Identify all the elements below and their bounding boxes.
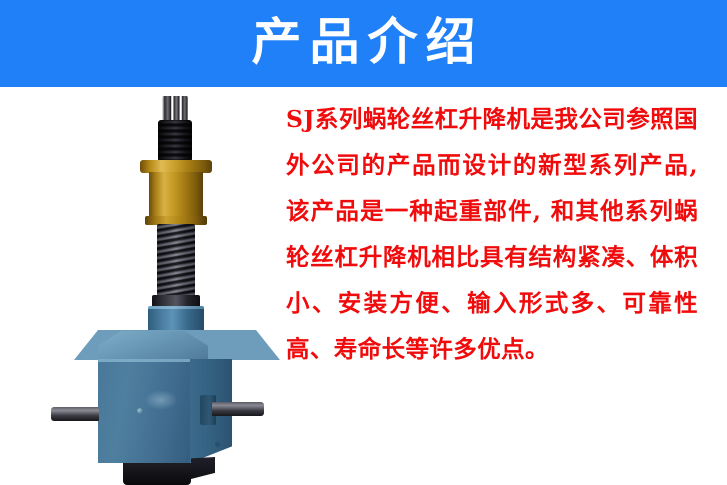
gearbox-specular-sheen	[144, 390, 178, 410]
page-title: 产品介绍	[0, 0, 727, 87]
product-description: SJ系列蜗轮丝杠升降机是我公司参照国外公司的产品而设计的新型系列产品, 该产品是…	[286, 96, 698, 372]
mounting-base	[123, 463, 191, 485]
gearbox-edge-highlight	[98, 359, 190, 362]
product-intro-page: 产品介绍 SJ系列蜗轮丝杠升降机是我公司参照国外公司的产品而设计的新型系列产品,…	[0, 0, 727, 427]
gearbox-front-face	[98, 359, 190, 463]
screw-rod-upper	[158, 120, 192, 162]
gearbox-bolt	[215, 442, 220, 447]
input-shaft-right	[212, 402, 264, 416]
gearbox-top-shading	[98, 331, 208, 360]
product-image	[40, 90, 270, 400]
input-shaft-left	[51, 407, 99, 421]
screw-rod-lower	[157, 224, 195, 298]
brass-collar-body	[149, 172, 203, 220]
mounting-base-side	[191, 457, 215, 479]
gearbox-bolt	[137, 408, 143, 414]
